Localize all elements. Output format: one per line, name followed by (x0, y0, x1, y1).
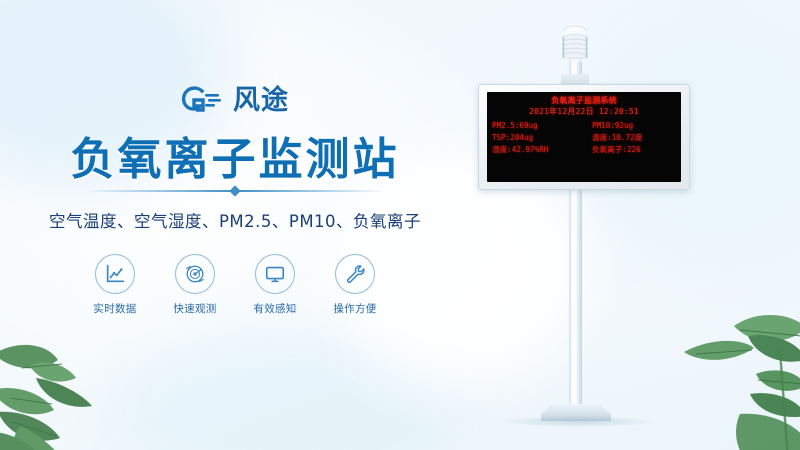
hero-subtitle: 空气温度、空气湿度、PM2.5、PM10、负氧离子 (0, 208, 470, 232)
hero-copy: 风途 负氧离子监测站 空气温度、空气湿度、PM2.5、PM10、负氧离子 实时数… (0, 80, 470, 316)
led-readings-grid: PM2.5:69ug PM10:92ug TSP:204ug 温度:10.72度… (492, 120, 676, 155)
brand-logo: 风途 (0, 80, 470, 120)
led-reading-tsp: TSP:204ug (492, 132, 582, 143)
led-reading-temperature: 温度:10.72度 (586, 132, 676, 143)
feature-icon-ring (335, 254, 375, 294)
page-title: 负氧离子监测站 (0, 136, 470, 184)
feature-item-realtime-data[interactable]: 实时数据 (86, 254, 144, 316)
led-reading-negative-ion: 负氧离子:226 (586, 144, 676, 155)
feature-label: 操作方便 (326, 301, 384, 316)
leaf-decoration-left-icon (0, 306, 142, 450)
led-screen: 负氧离子监测系统 2021年12月22日 12:20:51 PM2.5:69ug… (487, 92, 681, 182)
ground-shadow (503, 416, 653, 427)
title-divider (85, 190, 385, 192)
feature-icon-ring (95, 254, 135, 294)
led-datetime: 2021年12月22日 12:20:51 (492, 107, 676, 118)
led-title: 负氧离子监测系统 (492, 96, 676, 106)
radar-scan-icon (184, 263, 206, 285)
wrench-icon (344, 263, 366, 285)
feature-icon-ring (175, 254, 215, 294)
feature-label: 快速观测 (166, 301, 224, 316)
feature-item-effective-sensing[interactable]: 有效感知 (246, 254, 304, 316)
led-reading-pm10: PM10:92ug (586, 120, 676, 131)
fengtu-g-wind-logo-icon (181, 85, 225, 115)
brand-logo-text: 风途 (233, 87, 289, 114)
feature-list: 实时数据 快速观测 (0, 254, 470, 316)
led-reading-pm25: PM2.5:69ug (492, 120, 582, 131)
feature-label: 有效感知 (246, 301, 304, 316)
feature-item-easy-operation[interactable]: 操作方便 (326, 254, 384, 316)
line-chart-icon (104, 263, 126, 285)
feature-item-fast-observation[interactable]: 快速观测 (166, 254, 224, 316)
feature-icon-ring (255, 254, 295, 294)
led-display-panel[interactable]: 负氧离子监测系统 2021年12月22日 12:20:51 PM2.5:69ug… (478, 84, 690, 190)
monitor-icon (264, 263, 286, 285)
feature-label: 实时数据 (86, 301, 144, 316)
monitoring-station: 负氧离子监测系统 2021年12月22日 12:20:51 PM2.5:69ug… (455, 0, 755, 450)
promo-banner: 风途 负氧离子监测站 空气温度、空气湿度、PM2.5、PM10、负氧离子 实时数… (0, 0, 800, 450)
led-reading-humidity: 湿度:42.97%RH (492, 144, 582, 155)
background-blob (110, 330, 470, 450)
